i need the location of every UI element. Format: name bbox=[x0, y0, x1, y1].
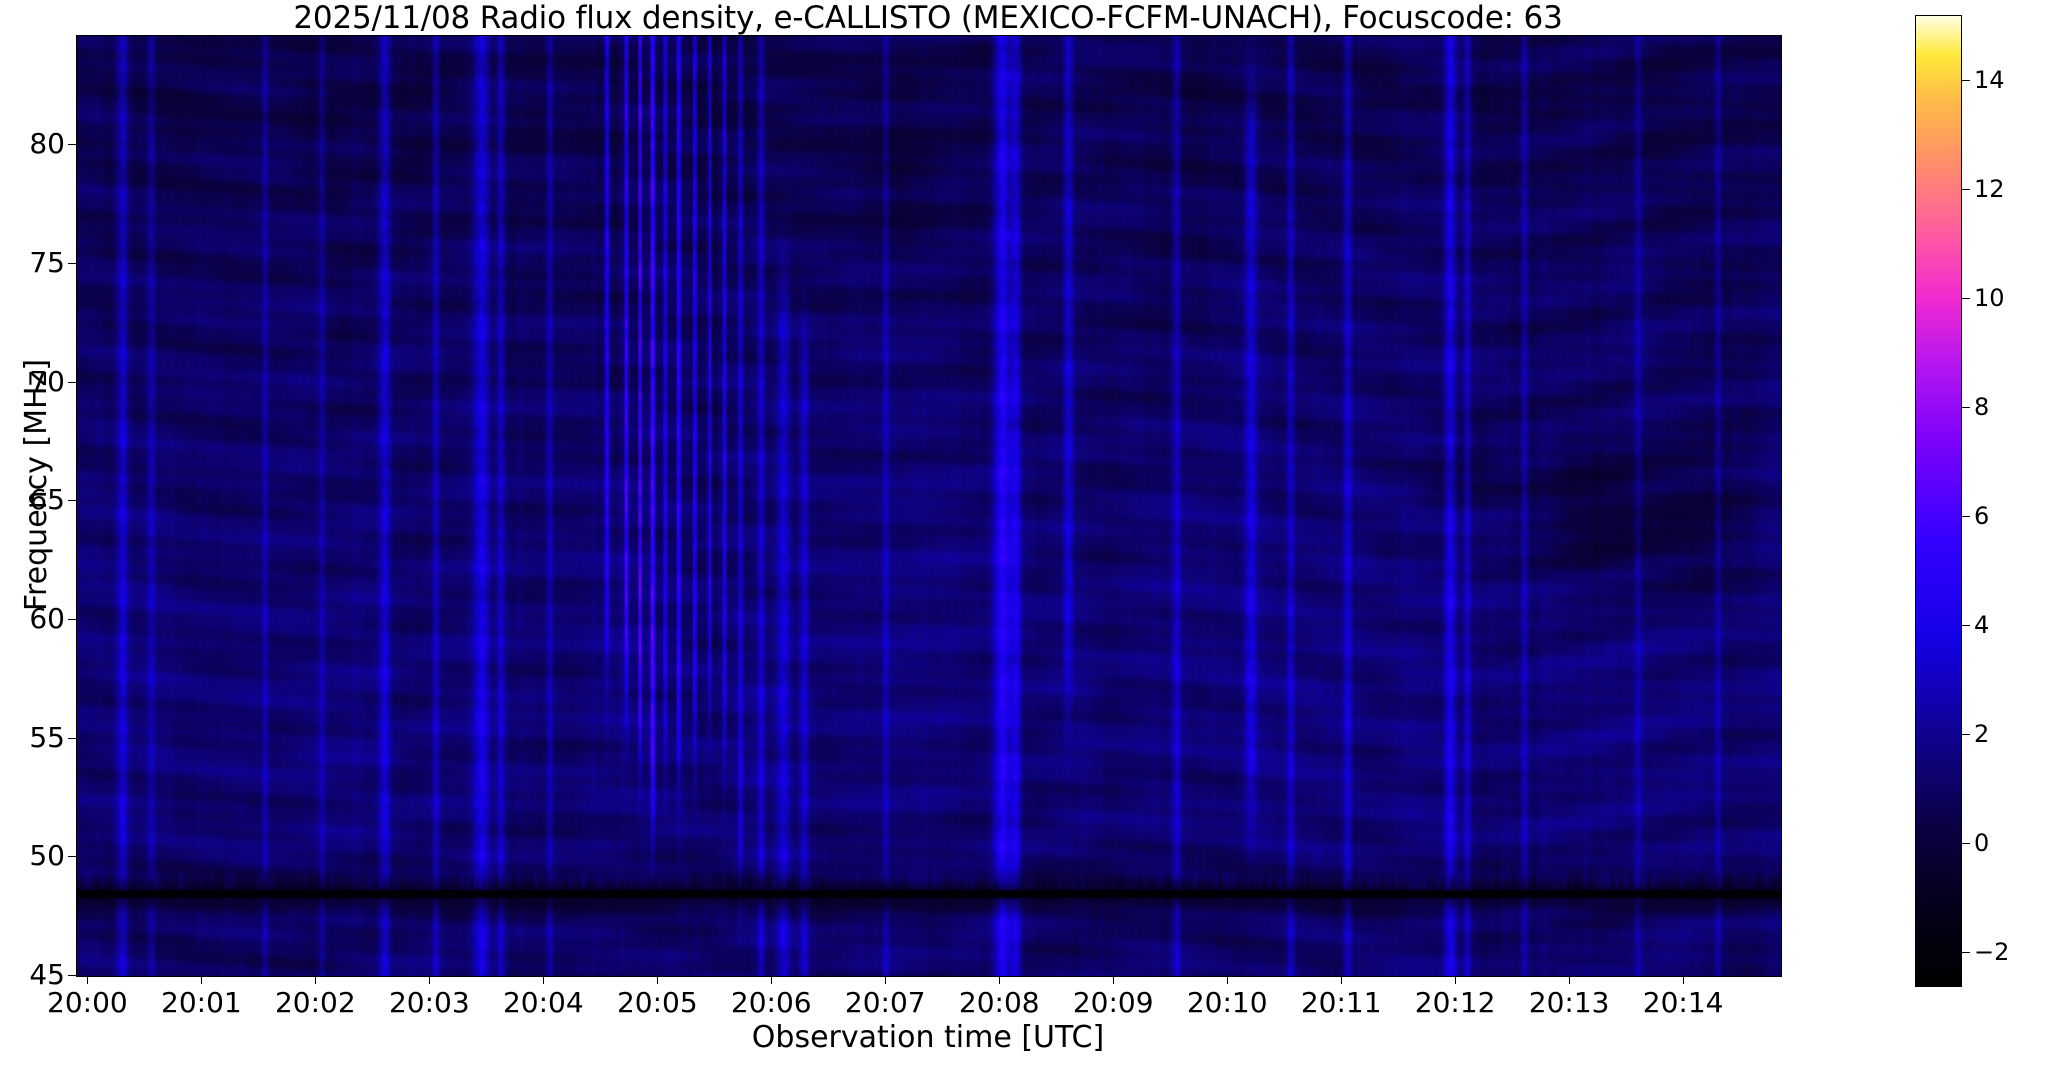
x-tick-mark bbox=[1683, 976, 1684, 984]
y-tick-mark bbox=[68, 856, 76, 857]
x-tick-mark bbox=[87, 976, 88, 984]
y-tick-label: 50 bbox=[0, 842, 65, 870]
colorbar-tick-mark bbox=[1962, 516, 1970, 517]
page-title: 2025/11/08 Radio flux density, e-CALLIST… bbox=[76, 2, 1780, 34]
colorbar-tick-mark bbox=[1962, 189, 1970, 190]
x-tick-mark bbox=[657, 976, 658, 984]
x-tick-mark bbox=[201, 976, 202, 984]
y-tick-label: 75 bbox=[0, 249, 65, 277]
y-tick-label: 70 bbox=[0, 368, 65, 396]
x-tick-mark bbox=[1341, 976, 1342, 984]
colorbar-tick-label: −2 bbox=[1974, 940, 2044, 964]
colorbar-tick-label: 10 bbox=[1974, 286, 2044, 310]
x-tick-label: 20:14 bbox=[1593, 988, 1773, 1018]
y-tick-mark bbox=[68, 382, 76, 383]
colorbar-tick-mark bbox=[1962, 298, 1970, 299]
colorbar-tick-mark bbox=[1962, 80, 1970, 81]
y-tick-mark bbox=[68, 500, 76, 501]
x-tick-mark bbox=[543, 976, 544, 984]
colorbar-tick-label: 6 bbox=[1974, 504, 2044, 528]
colorbar-tick-label: 14 bbox=[1974, 68, 2044, 92]
figure-canvas: 2025/11/08 Radio flux density, e-CALLIST… bbox=[0, 0, 2047, 1067]
x-tick-mark bbox=[999, 976, 1000, 984]
colorbar-tick-mark bbox=[1962, 625, 1970, 626]
y-tick-label: 60 bbox=[0, 605, 65, 633]
x-tick-mark bbox=[429, 976, 430, 984]
colorbar-tick-mark bbox=[1962, 843, 1970, 844]
y-tick-label: 55 bbox=[0, 724, 65, 752]
x-tick-mark bbox=[885, 976, 886, 984]
y-tick-label: 45 bbox=[0, 961, 65, 989]
y-tick-mark bbox=[68, 619, 76, 620]
y-tick-label: 80 bbox=[0, 130, 65, 158]
y-tick-mark bbox=[68, 738, 76, 739]
x-tick-mark bbox=[315, 976, 316, 984]
colorbar-tick-mark bbox=[1962, 407, 1970, 408]
colorbar-tick-label: 0 bbox=[1974, 831, 2044, 855]
y-tick-mark bbox=[68, 975, 76, 976]
colorbar-tick-label: 4 bbox=[1974, 613, 2044, 637]
colorbar-gradient bbox=[1916, 16, 1961, 986]
x-tick-mark bbox=[771, 976, 772, 984]
x-tick-mark bbox=[1455, 976, 1456, 984]
colorbar-tick-label: 12 bbox=[1974, 177, 2044, 201]
x-tick-mark bbox=[1569, 976, 1570, 984]
colorbar-tick-mark bbox=[1962, 952, 1970, 953]
x-axis-label: Observation time [UTC] bbox=[76, 1022, 1780, 1054]
colorbar-tick-label: 2 bbox=[1974, 722, 2044, 746]
spectrogram-plot-area[interactable] bbox=[76, 35, 1782, 977]
x-tick-mark bbox=[1113, 976, 1114, 984]
colorbar-tick-mark bbox=[1962, 734, 1970, 735]
y-tick-mark bbox=[68, 144, 76, 145]
y-tick-mark bbox=[68, 263, 76, 264]
spectrogram-image bbox=[77, 36, 1781, 976]
colorbar[interactable] bbox=[1915, 15, 1962, 987]
colorbar-tick-label: 8 bbox=[1974, 395, 2044, 419]
y-tick-label: 65 bbox=[0, 486, 65, 514]
x-tick-mark bbox=[1227, 976, 1228, 984]
